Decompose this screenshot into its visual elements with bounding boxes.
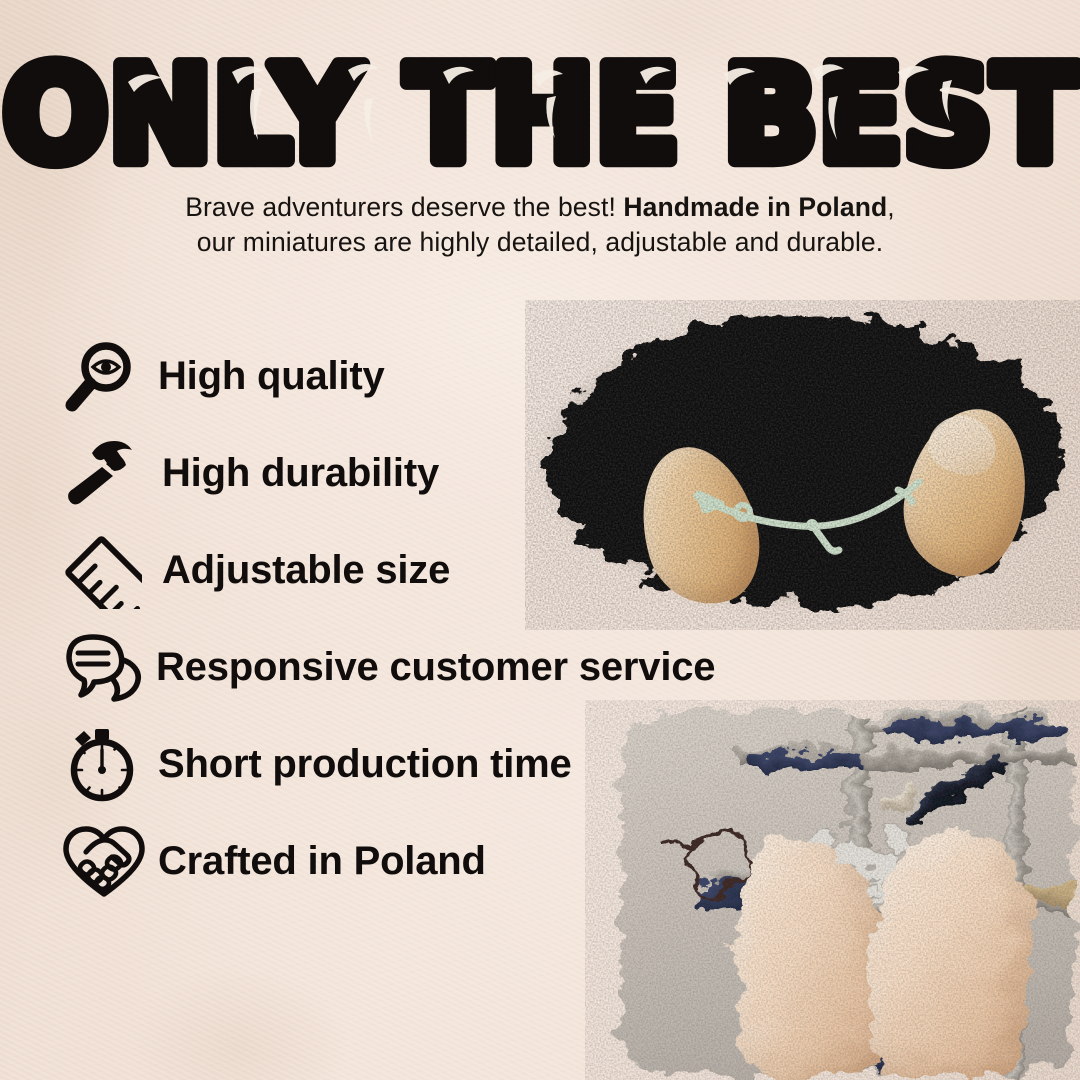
heart-handshake-icon	[62, 823, 148, 901]
subheading: Brave adventurers deserve the best! Hand…	[0, 190, 1080, 260]
hammer-icon	[62, 435, 148, 513]
headline-title: ONLY THE BEST	[3, 39, 1078, 186]
shelf-miniature-c	[973, 710, 997, 726]
headline-artwork: ONLY THE BEST	[0, 36, 1080, 186]
stopwatch-icon	[62, 726, 148, 804]
shelf-miniature-a	[907, 710, 929, 726]
ruler-icon	[62, 532, 148, 610]
speech-bubbles-icon	[62, 629, 148, 707]
subheading-bold: Handmade in Poland	[623, 192, 887, 222]
feature-label: Responsive customer service	[148, 645, 715, 690]
feature-label: Crafted in Poland	[148, 839, 486, 884]
feature-label: High quality	[148, 354, 385, 399]
feature-label: Adjustable size	[148, 548, 450, 593]
headline-container: ONLY THE BEST	[0, 36, 1080, 191]
flexible-miniature-part	[685, 470, 935, 556]
flexible-miniature-photo	[525, 300, 1080, 630]
workshop-painting-photo-inner	[585, 700, 1080, 1080]
flexible-miniature-photo-inner	[525, 300, 1080, 630]
workshop-painting-photo	[585, 700, 1080, 1080]
subheading-tail: ,	[887, 192, 894, 222]
tray-upper	[883, 724, 1065, 738]
subheading-lead: Brave adventurers deserve the best!	[185, 192, 623, 222]
shelf-miniature-b	[939, 712, 959, 726]
feature-label: High durability	[148, 451, 439, 496]
tray-top-left	[751, 754, 861, 767]
feature-label: Short production time	[148, 742, 572, 787]
magnifier-eye-icon	[62, 338, 148, 416]
subheading-line-1: Brave adventurers deserve the best! Hand…	[0, 190, 1080, 225]
subheading-line-2: our miniatures are highly detailed, adju…	[0, 225, 1080, 260]
infographic-poster: ONLY THE BEST Brave adventu	[0, 0, 1080, 1080]
workshop-scene	[621, 710, 1073, 1076]
